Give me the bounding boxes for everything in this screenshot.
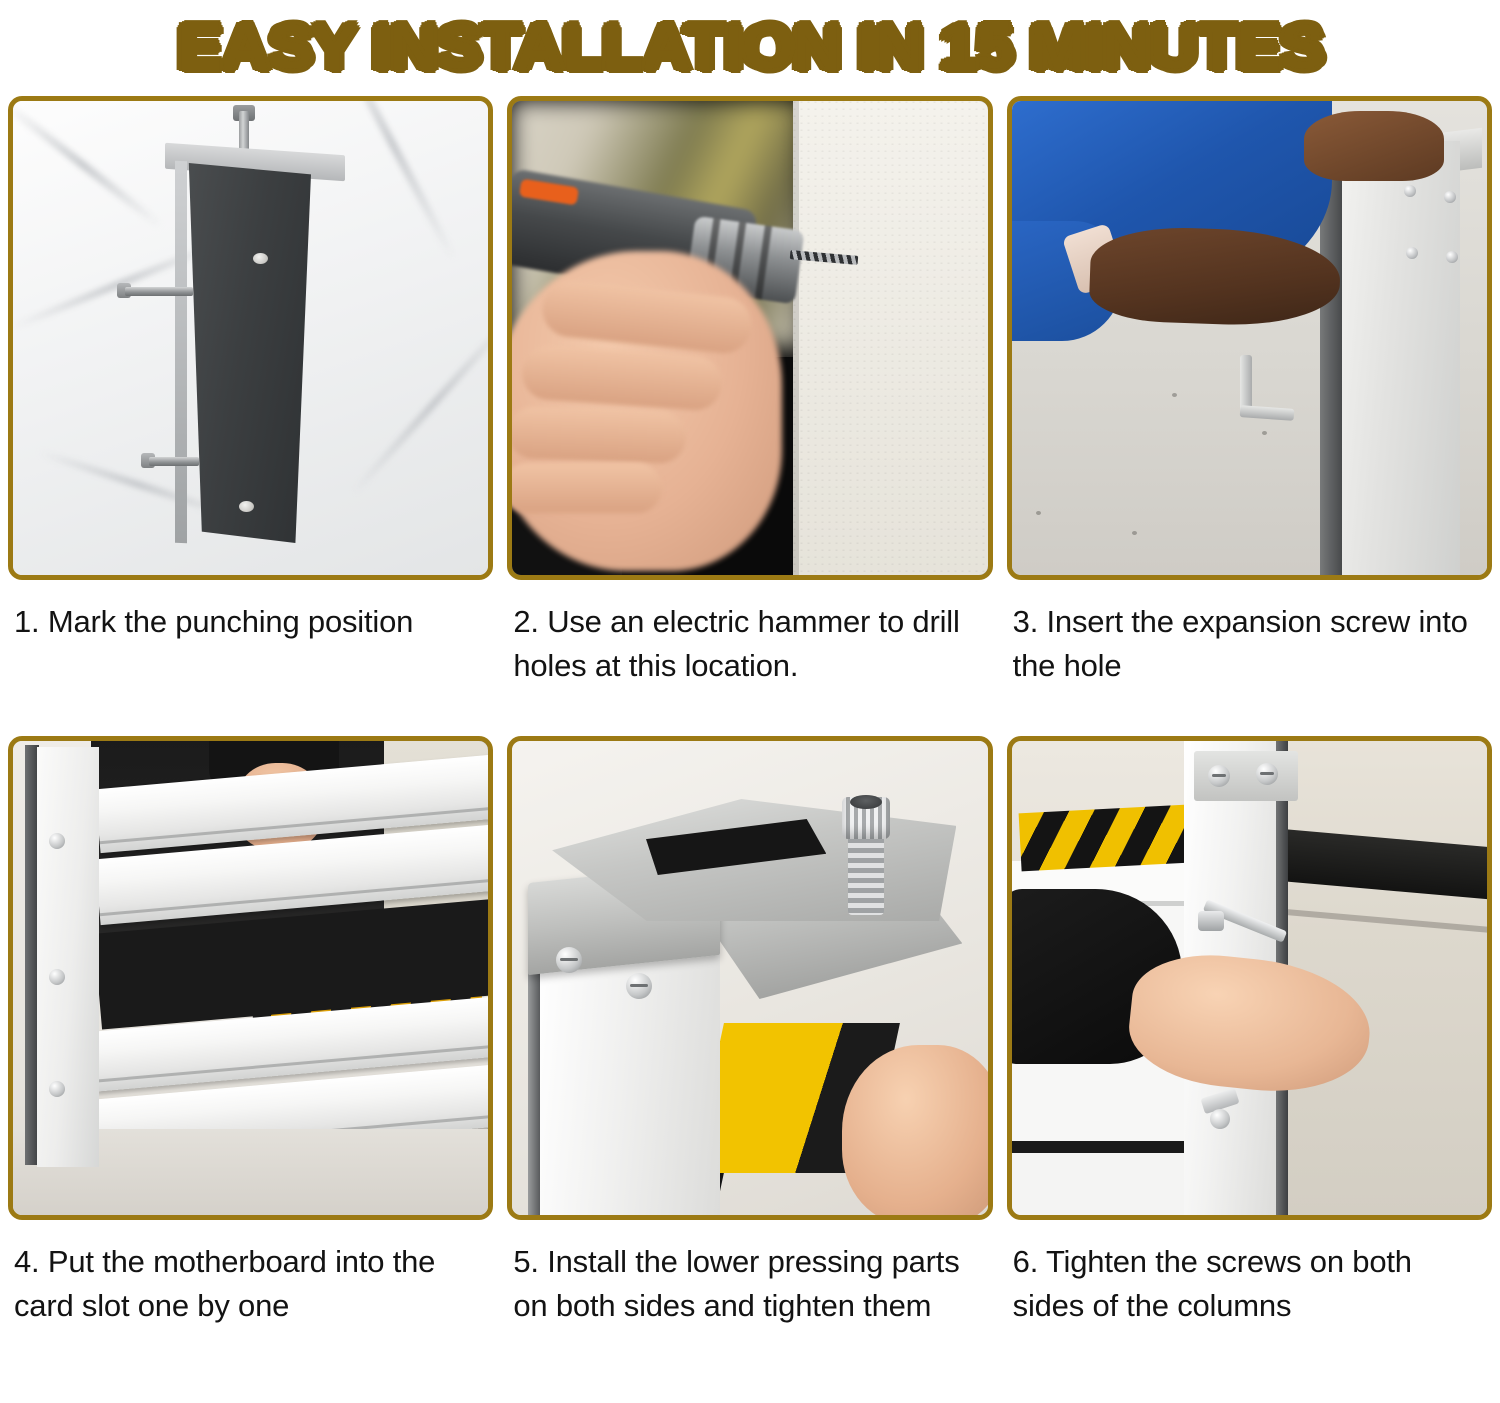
drilling-wall-photo (512, 101, 987, 575)
step-card-3: 3. Insert the expansion screw into the h… (1007, 96, 1492, 736)
step-3-caption: 3. Insert the expansion screw into the h… (1007, 580, 1492, 688)
tighten-screws-photo (1012, 741, 1487, 1215)
step-card-2: 2. Use an electric hammer to drill holes… (507, 96, 992, 736)
step-card-4: 4. Put the motherboard into the card slo… (8, 736, 493, 1376)
page-title: EASY INSTALLATION IN 15 MINUTES (177, 17, 1323, 79)
step-5-photo-frame (507, 736, 992, 1220)
step-2-caption: 2. Use an electric hammer to drill holes… (507, 580, 992, 688)
installation-steps-grid: 1. Mark the punching position (0, 96, 1500, 1376)
step-1-photo-frame (8, 96, 493, 580)
step-4-photo-frame (8, 736, 493, 1220)
expansion-screw-photo (1012, 101, 1487, 575)
step-6-caption: 6. Tighten the screws on both sides of t… (1007, 1220, 1492, 1328)
step-5-caption: 5. Install the lower pressing parts on b… (507, 1220, 992, 1328)
motherboard-slot-photo (13, 741, 488, 1215)
phillips-screw-icon (1256, 763, 1278, 785)
header-banner: EASY INSTALLATION IN 15 MINUTES (0, 0, 1500, 96)
screw-icon (1210, 1109, 1230, 1129)
step-card-1: 1. Mark the punching position (8, 96, 493, 736)
step-1-caption: 1. Mark the punching position (8, 580, 493, 644)
step-card-6: 6. Tighten the screws on both sides of t… (1007, 736, 1492, 1376)
step-card-5: 5. Install the lower pressing parts on b… (507, 736, 992, 1376)
pressing-bracket-photo (512, 741, 987, 1215)
step-3-photo-frame (1007, 96, 1492, 580)
column-marking-photo (13, 101, 488, 575)
step-6-photo-frame (1007, 736, 1492, 1220)
step-4-caption: 4. Put the motherboard into the card slo… (8, 1220, 493, 1328)
step-2-photo-frame (507, 96, 992, 580)
phillips-screw-icon (1208, 765, 1230, 787)
